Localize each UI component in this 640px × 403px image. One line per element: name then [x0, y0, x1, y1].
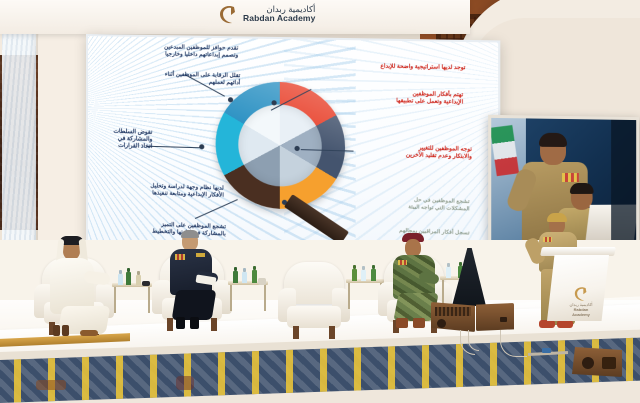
slide-label-2: تقلل الرقابة على الموظفين أثناء أدائهم ل…: [126, 71, 240, 87]
leader-dot-1: [228, 97, 233, 102]
leader-dot-3: [199, 144, 204, 149]
microphone-icon: [142, 281, 150, 286]
uniform-ribbons: [562, 173, 579, 182]
leader-line-3: [146, 146, 201, 149]
combat-boot-icon: [396, 318, 408, 328]
water-bottle: [242, 272, 247, 283]
glass-icon: [258, 278, 266, 285]
medal-ribbons-icon: [175, 254, 185, 260]
medal-ribbons-icon: [543, 237, 552, 242]
slide-label-6: توجد لديها استراتيجية واضحة للإبداع: [326, 62, 465, 72]
slide-label-8: توجه الموظفين للتغيير والابتكار وعدم تقل…: [343, 143, 472, 161]
podium-logo: أكاديمية ربدان Rabdan Academy: [567, 285, 595, 317]
monitor-port-icon: [437, 319, 446, 328]
water-bottle: [118, 274, 123, 285]
stage-monitor-3: [572, 347, 622, 377]
dress-shoe-icon: [176, 317, 185, 329]
rabdan-academy-logo: أكاديمية ربدان Rabdan Academy: [218, 3, 315, 25]
presenter-cap-icon: [547, 213, 567, 222]
shoulder-insignia-icon: [196, 253, 205, 257]
slide-label-3: تفوض السلطات والمشاركة في اتخاذ القرارات: [96, 128, 152, 151]
armchair-3-empty: [278, 262, 350, 334]
green-bottle: [252, 270, 257, 283]
side-table-2: [228, 281, 268, 313]
donut-chart: [216, 81, 345, 211]
panelist-2-legs: [172, 290, 217, 320]
foreground-head-silhouette: [176, 376, 194, 390]
logo-name-english: Rabdan Academy: [243, 14, 315, 23]
stage-monitor-2: [476, 303, 514, 331]
venue-banner: أكاديمية ربدان Rabdan Academy: [0, 0, 470, 34]
water-bottle: [361, 270, 366, 281]
rabdan-academy-logo-icon: [218, 3, 238, 25]
slide-label-1: تقدم حوافز للموظفين المبدعين وتصمم إبداع…: [120, 44, 238, 60]
side-table-1: [112, 283, 152, 315]
cable-connector-icon: [542, 348, 551, 353]
green-bottle: [352, 269, 357, 281]
slide-label-7: تهتم بأفكار الموظفين الإبداعية وتعمل على…: [334, 89, 463, 106]
panelist-2-hair: [181, 230, 199, 238]
wall-light-column: [2, 30, 36, 262]
foreground-object: [36, 380, 66, 390]
podium-top-surface: [540, 247, 616, 256]
water-bottle: [446, 267, 451, 278]
slide-label-9: تشجع الموظفين في حل المشكلات التي تواجه …: [349, 195, 469, 213]
stage-monitor-1: [431, 302, 475, 332]
leader-dot-6: [271, 100, 276, 105]
podium-logo-english: Rabdan Academy: [567, 307, 595, 317]
medal-ribbons-icon: [398, 260, 407, 265]
juice-bottle: [136, 275, 141, 285]
projection-slide: تقدم حوافز للموظفين المبدعين وتصمم إبداع…: [86, 34, 500, 262]
green-bottle: [233, 271, 238, 283]
conference-photo: أكاديمية ربدان Rabdan Academy تقدم حوافز…: [0, 0, 640, 403]
red-shoe-icon: [539, 320, 555, 328]
panelist-white-kandura: [44, 234, 116, 340]
podium-body: أكاديمية ربدان Rabdan Academy: [547, 255, 609, 321]
speaking-podium: أكاديمية ربدان Rabdan Academy: [545, 247, 611, 321]
sandal-icon: [80, 330, 98, 336]
green-bottle: [126, 272, 131, 285]
screen-right-shadow: [611, 120, 636, 241]
slide-label-4: لديها نظام وجهة لدراسة وتحليل الأفكار ال…: [112, 182, 224, 200]
green-bottle: [371, 269, 376, 281]
panelist-navy-uniform: [166, 232, 226, 332]
leader-dot-8: [294, 146, 299, 151]
